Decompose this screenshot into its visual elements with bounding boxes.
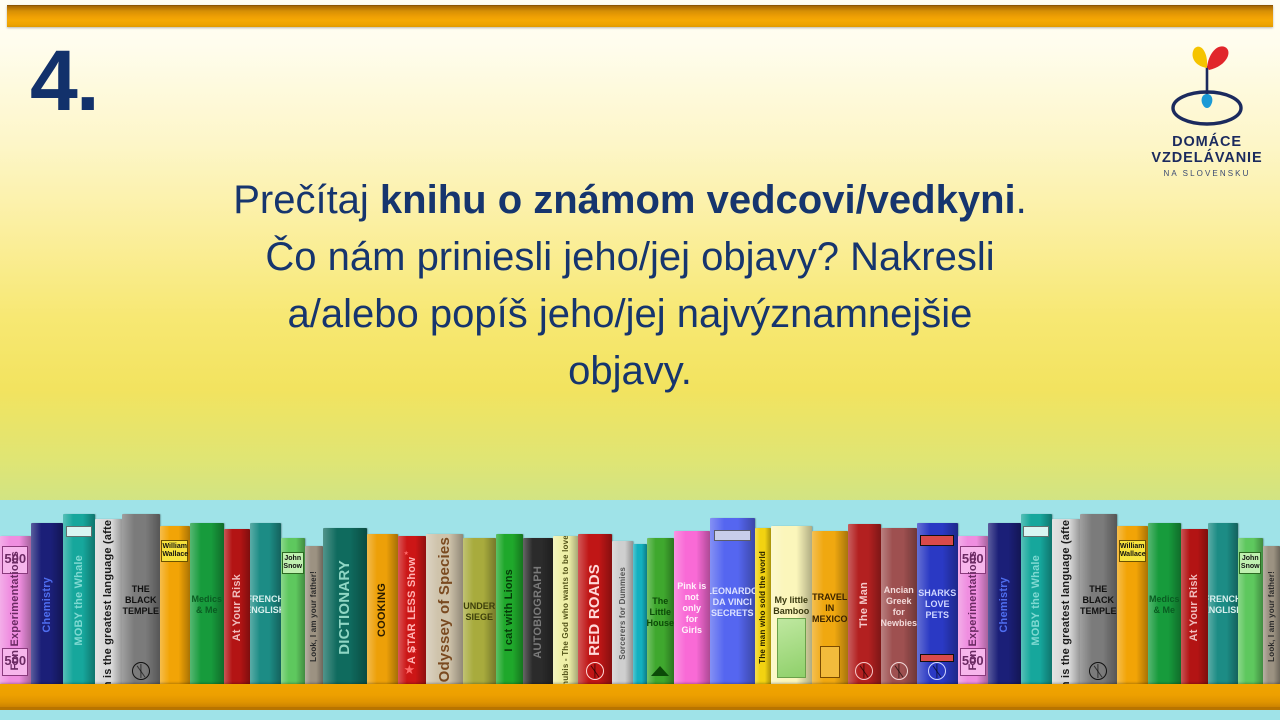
book-spine: At Your Risk <box>224 529 251 686</box>
instruction-line-1-end: . <box>1016 178 1027 222</box>
book-spine: SHARKS LOVE PETS <box>917 523 958 686</box>
book-title: Egyptian is the greatest language (after… <box>1060 519 1072 686</box>
book-title: MOBY the Whale <box>73 555 85 646</box>
instruction-line-2: Čo nám priniesli jeho/jej objavy? Nakres… <box>265 235 994 279</box>
bookshelf-illustration: 500500Fun ExperimentationsChemistryMOBY … <box>0 500 1280 720</box>
book-title: I cat with Lions <box>503 569 515 652</box>
logo-line-2: VZDELÁVANIE <box>1148 150 1266 166</box>
book-title: The man who sold the world <box>758 551 767 664</box>
book-title: LEONARDO DA VINCI SECRETS <box>710 586 755 619</box>
book-title: MOBY the Whale <box>1030 555 1042 646</box>
book-row: 500500Fun ExperimentationsChemistryMOBY … <box>0 500 1280 686</box>
book-title: The Man <box>858 582 870 628</box>
book-title: FRENCH ENGLISH <box>1208 594 1239 616</box>
brand-logo: DOMÁCE VZDELÁVANIE NA SLOVENSKU <box>1148 36 1266 186</box>
top-accent-bar <box>7 5 1273 27</box>
shelf-bottom-strip <box>0 710 1280 720</box>
book-spine: The Man <box>848 524 881 686</box>
book-spine: Look, I am your father! <box>305 546 323 686</box>
book-title: Odyssey of Species <box>436 537 453 682</box>
book-title: Fun Experimentations <box>9 551 21 671</box>
book-spine: The man who sold the world <box>755 528 772 686</box>
book-title: At Your Risk <box>1188 574 1200 641</box>
book-title: UNDER SIEGE <box>463 601 497 623</box>
book-spine: AUTOBIOGRAPH <box>523 538 554 686</box>
book-spine: Pink is not only for Girls <box>674 531 711 686</box>
book-spine: 500500Fun Experimentations <box>958 536 989 686</box>
book-spine: Egyptian is the greatest language (after… <box>95 519 123 686</box>
book-spine: Chemistry <box>988 523 1021 686</box>
logo-line-1: DOMÁCE <box>1148 134 1266 150</box>
book-spine <box>633 544 648 686</box>
book-spine: TRAVEL IN MEXICO <box>812 531 849 686</box>
book-spine: 500500Fun Experimentations <box>0 536 31 686</box>
book-spine: Anubis - The God who wants to be loved <box>553 536 578 686</box>
book-title: A STAR LESS Show <box>406 557 418 664</box>
book-spine: Egyptian is the greatest language (after… <box>1052 519 1080 686</box>
shelf-plank <box>0 684 1280 708</box>
book-spine: UNDER SIEGE <box>463 538 497 686</box>
book-spine: I cat with Lions <box>496 534 523 686</box>
book-spine: THE BLACK TEMPLE <box>122 514 160 686</box>
book-title: At Your Risk <box>231 574 243 641</box>
book-spine: FRENCH ENGLISH <box>1208 523 1239 686</box>
book-title: Look, I am your father! <box>309 571 318 662</box>
slide-number: 4. <box>30 38 98 124</box>
book-title: Chemistry <box>998 577 1010 633</box>
book-spine: Medics & Me <box>1148 523 1182 686</box>
book-title: The Little House <box>647 596 674 629</box>
book-title: FRENCH ENGLISH <box>250 594 281 616</box>
book-title: Pink is not only for Girls <box>674 581 711 636</box>
instruction-line-3: a/alebo popíš jeho/jej najvýznamnejšie <box>288 292 973 336</box>
book-spine: At Your Risk <box>1181 529 1208 686</box>
book-title: Look, I am your father! <box>1267 571 1276 662</box>
book-spine: MOBY the Whale <box>1021 514 1053 686</box>
logo-line-3: NA SLOVENSKU <box>1148 169 1266 178</box>
book-title: Egyptian is the greatest language (after… <box>102 519 114 686</box>
book-title: Chemistry <box>41 577 53 633</box>
sprout-logo-icon <box>1148 36 1266 134</box>
book-title: RED ROADS <box>586 564 603 656</box>
book-spine: William Wallace <box>160 526 191 686</box>
slide-canvas: 4. DOMÁCE VZDELÁVANIE NA SLOVENSKU Prečí… <box>0 0 1280 720</box>
instruction-line-4: objavy. <box>568 349 692 393</box>
book-title: SHARKS LOVE PETS <box>917 588 958 621</box>
task-instruction-text: Prečítaj knihu o známom vedcovi/vedkyni.… <box>118 172 1142 400</box>
book-title: Ancian Greek for Newbies <box>881 585 918 629</box>
book-spine: RED ROADS <box>578 534 613 686</box>
book-spine: FRENCH ENGLISH <box>250 523 281 686</box>
book-title: THE BLACK TEMPLE <box>122 584 160 617</box>
book-spine: My little Bamboo <box>771 526 812 686</box>
book-spine: John Snow <box>281 538 306 686</box>
book-title: TRAVEL IN MEXICO <box>812 592 849 625</box>
book-spine: The Little House <box>647 538 674 686</box>
book-spine: ★★★A STAR LESS Show <box>398 536 427 686</box>
book-title: Medics & Me <box>190 594 224 616</box>
book-spine: Sorcerers for Dummies <box>612 541 633 686</box>
book-title: Fun Experimentations <box>967 551 979 671</box>
book-spine: Look, I am your father! <box>1263 546 1280 686</box>
book-title: Sorcerers for Dummies <box>618 567 627 660</box>
book-spine: COOKING <box>367 534 398 686</box>
book-title: Medics & Me <box>1148 594 1182 616</box>
book-spine: DICTIONARY <box>323 528 368 686</box>
book-title: COOKING <box>376 583 388 637</box>
book-spine: MOBY the Whale <box>63 514 95 686</box>
book-title: AUTOBIOGRAPH <box>532 566 544 659</box>
book-spine: Odyssey of Species <box>426 534 463 686</box>
book-title: DICTIONARY <box>336 560 353 655</box>
book-title: THE BLACK TEMPLE <box>1080 584 1118 617</box>
book-spine: Chemistry <box>31 523 64 686</box>
book-spine: LEONARDO DA VINCI SECRETS <box>710 518 755 686</box>
book-spine: Medics & Me <box>190 523 224 686</box>
book-title: Anubis - The God who wants to be loved <box>561 536 570 686</box>
instruction-line-1-plain: Prečítaj <box>233 178 380 222</box>
book-spine: Ancian Greek for Newbies <box>881 528 918 686</box>
book-spine: William Wallace <box>1117 526 1148 686</box>
book-spine: THE BLACK TEMPLE <box>1080 514 1118 686</box>
book-spine: John Snow <box>1238 538 1263 686</box>
book-title: My little Bamboo <box>771 595 812 617</box>
instruction-line-1-bold: knihu o známom vedcovi/vedkyni <box>380 178 1016 222</box>
